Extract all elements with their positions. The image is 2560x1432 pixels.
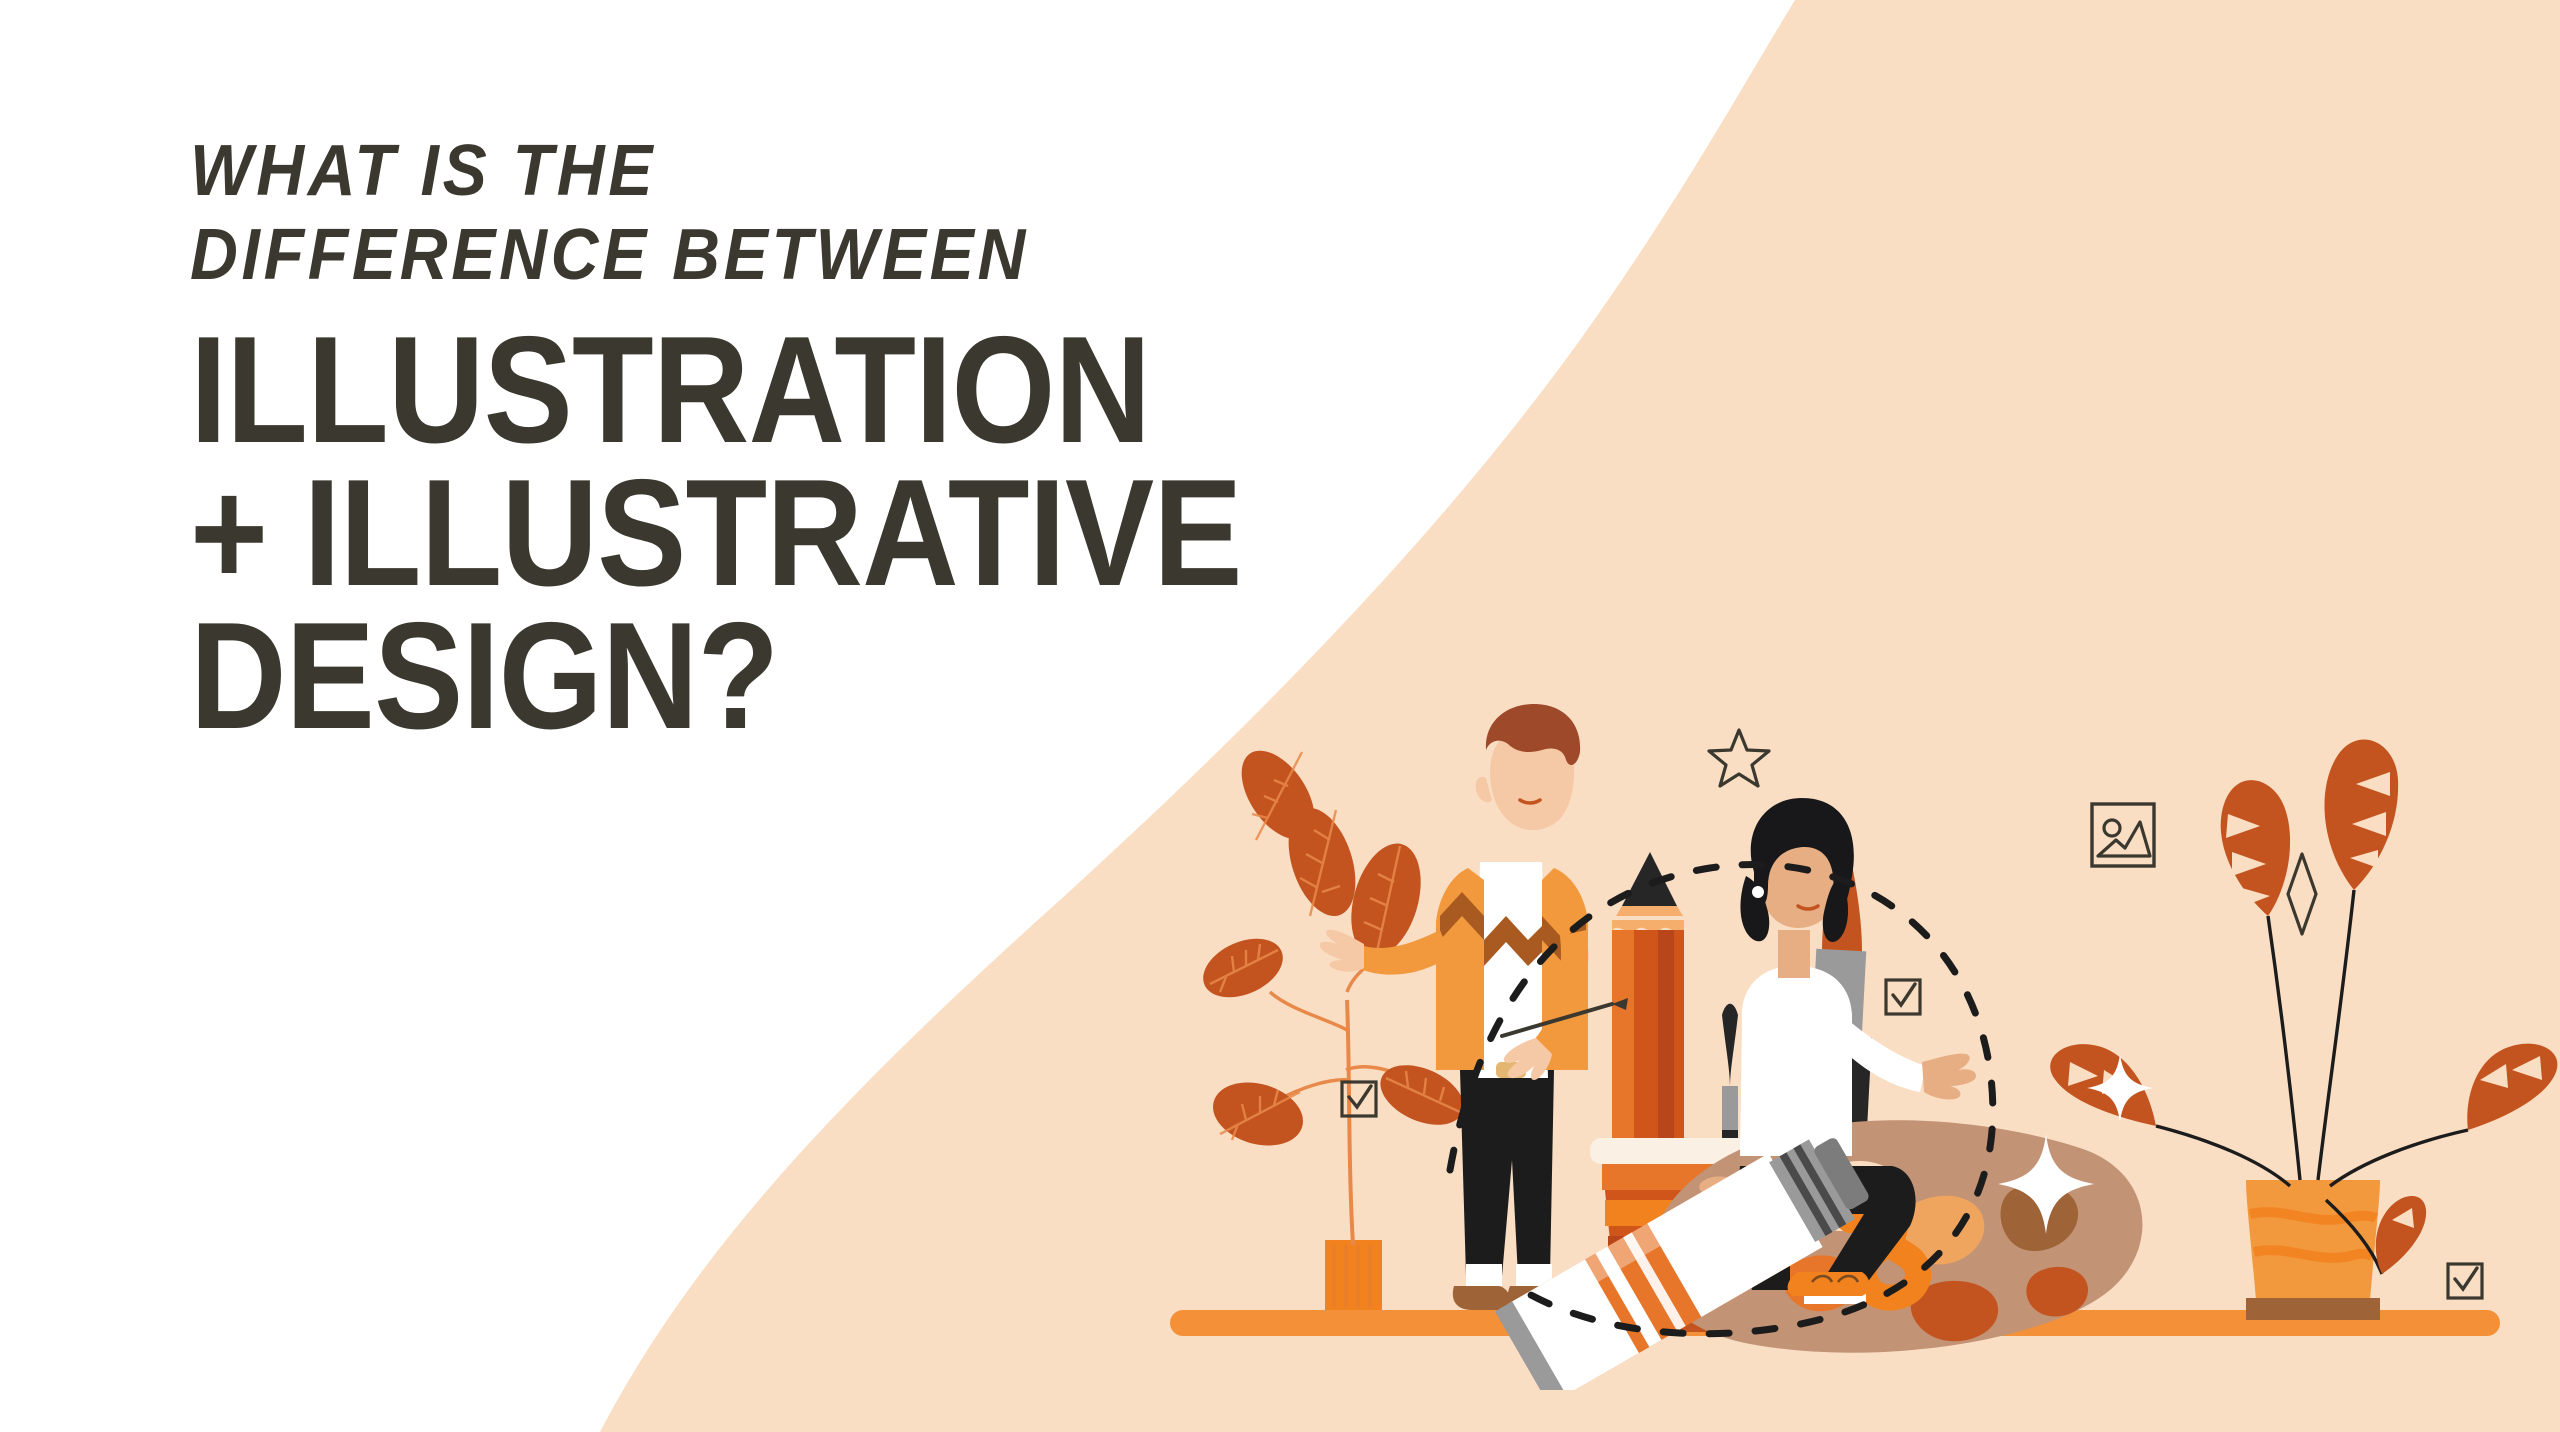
kicker-text: WHAT IS THE DIFFERENCE BETWEEN (190, 130, 1478, 297)
leafy-plant-left (1194, 738, 1473, 1310)
image-placeholder-icon (2092, 804, 2154, 866)
checkbox-icon (2448, 1264, 2482, 1298)
kicker-line-1: WHAT IS THE (190, 130, 1478, 214)
poster-canvas: WHAT IS THE DIFFERENCE BETWEEN ILLUSTRAT… (0, 0, 2560, 1432)
standing-man-illustrator (1320, 704, 1628, 1310)
art-supplies-illustration (1150, 600, 2560, 1390)
checkbox-icon (1886, 980, 1920, 1014)
star-outline-icon (1709, 730, 1769, 786)
sparkle-diamond-outline-icon (2288, 854, 2316, 934)
kicker-line-2: DIFFERENCE BETWEEN (190, 214, 1478, 298)
title-line-1: ILLUSTRATION (190, 319, 1422, 462)
title-line-2: + ILLUSTRATIVE (190, 462, 1422, 605)
